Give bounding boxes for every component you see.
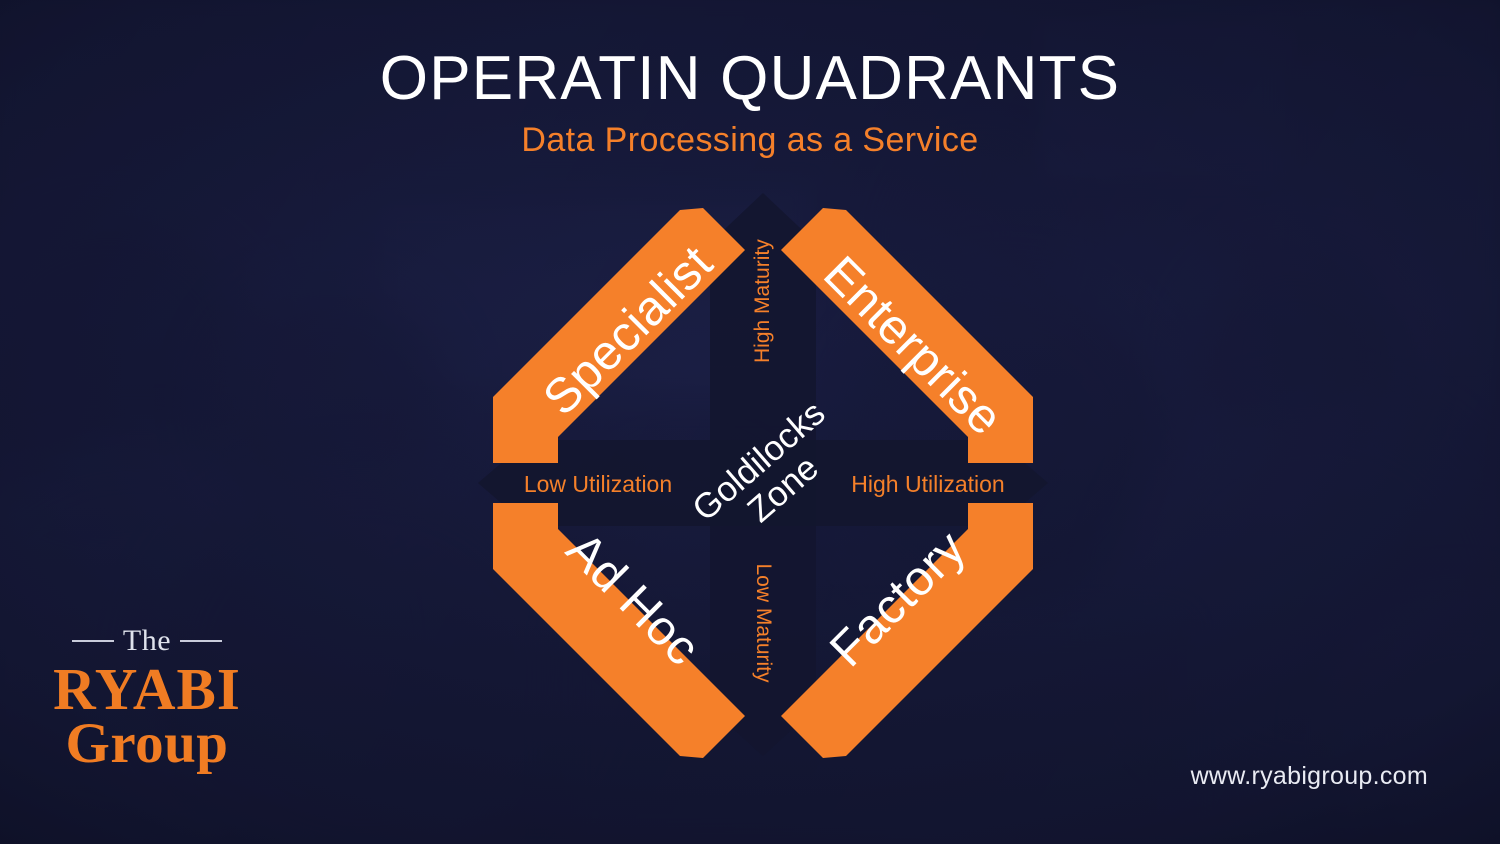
quadrant-diagram: Specialist Enterprise Ad Hoc Factory Hig…: [453, 183, 1073, 783]
logo-name-text: RYABI: [42, 660, 252, 719]
quadrant-bar-enterprise[interactable]: [781, 208, 1033, 463]
axis-label-high-maturity: High Maturity: [751, 243, 775, 363]
logo-rule-right: [180, 640, 222, 642]
page-title: OPERATIN QUADRANTS: [0, 46, 1500, 111]
axis-label-high-utilization: High Utilization: [828, 471, 1028, 498]
logo-the-row: The: [42, 624, 252, 658]
logo[interactable]: The RYABI Group: [42, 624, 252, 773]
quadrant-bar-specialist[interactable]: [493, 208, 745, 463]
header: OPERATIN QUADRANTS Data Processing as a …: [0, 46, 1500, 160]
logo-group-text: Group: [42, 715, 252, 773]
quadrant-bar-factory[interactable]: [781, 503, 1033, 758]
page-subtitle: Data Processing as a Service: [0, 121, 1500, 160]
axis-label-low-maturity: Low Maturity: [751, 563, 775, 683]
axis-label-low-utilization: Low Utilization: [498, 471, 698, 498]
logo-the-text: The: [123, 624, 171, 658]
quadrant-bar-adhoc[interactable]: [493, 503, 745, 758]
website-url[interactable]: www.ryabigroup.com: [1191, 762, 1428, 791]
logo-rule-left: [72, 640, 114, 642]
